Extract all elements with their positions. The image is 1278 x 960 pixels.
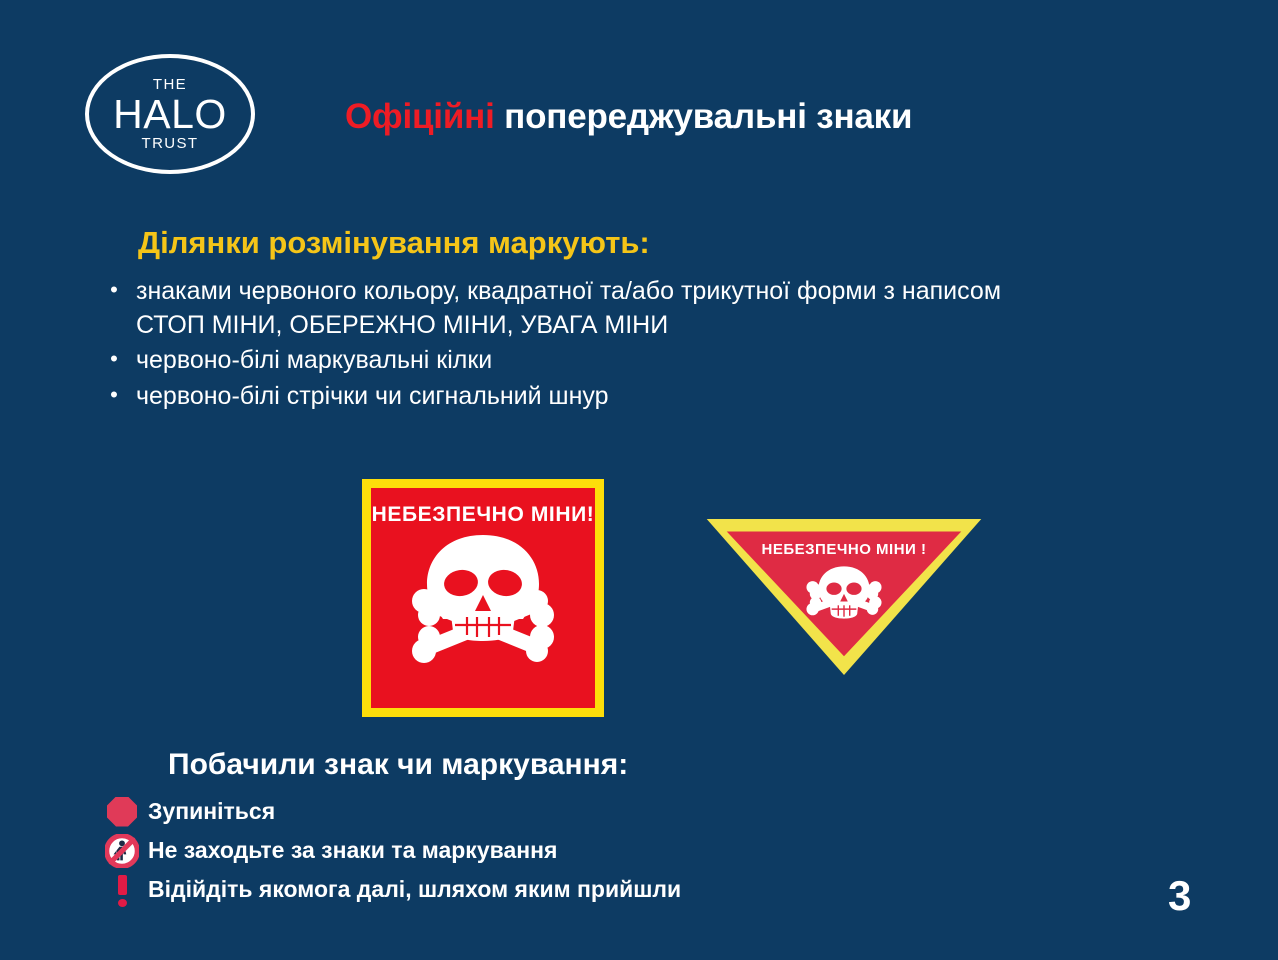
action-label: Відійдіть якомога далі, шляхом яким прий… xyxy=(148,876,1096,903)
bullet-text: червоно-білі маркувальні кілки xyxy=(136,344,1192,378)
bullet-text: червоно-білі стрічки чи сигнальний шнур xyxy=(136,380,1192,414)
action-label: Не заходьте за знаки та маркування xyxy=(148,837,1096,864)
skull-and-crossbones-icon xyxy=(403,531,563,686)
actions-list: Зупиніться Не заходьте за знаки та марку… xyxy=(96,792,1096,909)
triangle-sign-label: НЕБЕЗПЕЧНО МІНИ ! xyxy=(701,541,987,558)
exclamation-mark-icon xyxy=(96,875,148,905)
list-item: • знаками червоного кольору, квадратної … xyxy=(92,275,1192,342)
skull-and-crossbones-icon xyxy=(806,566,882,643)
no-entry-pedestrian-icon xyxy=(96,834,148,868)
logo-line-halo: HALO xyxy=(113,95,227,134)
bullet-text-line2: СТОП МІНИ, ОБЕРЕЖНО МІНИ, УВАГА МІНИ xyxy=(136,309,1192,343)
logo-line-the: THE xyxy=(153,77,187,92)
slide-title-accent: Офіційні xyxy=(345,97,495,136)
list-item: • червоно-білі маркувальні кілки xyxy=(92,344,1192,378)
logo-line-trust: TRUST xyxy=(142,136,199,151)
list-item: Не заходьте за знаки та маркування xyxy=(96,831,1096,870)
slide-root: THE HALO TRUST Офіційні попереджувальні … xyxy=(0,0,1278,960)
bullet-text-line1: червоно-білі маркувальні кілки xyxy=(136,346,492,374)
triangle-mine-warning-sign: НЕБЕЗПЕЧНО МІНИ ! xyxy=(701,519,987,675)
list-item: Відійдіть якомога далі, шляхом яким прий… xyxy=(96,870,1096,909)
list-item: • червоно-білі стрічки чи сигнальний шну… xyxy=(92,380,1192,414)
square-sign-label: НЕБЕЗПЕЧНО МІНИ! xyxy=(372,503,595,527)
stop-sign-icon xyxy=(96,797,148,827)
page-number: 3 xyxy=(1168,872,1191,920)
marking-bullet-list: • знаками червоного кольору, квадратної … xyxy=(92,275,1192,415)
list-item: Зупиніться xyxy=(96,792,1096,831)
bullet-marker-icon: • xyxy=(92,275,136,305)
square-mine-warning-sign: НЕБЕЗПЕЧНО МІНИ! xyxy=(362,479,604,717)
bullet-text: знаками червоного кольору, квадратної та… xyxy=(136,275,1192,342)
bullet-marker-icon: • xyxy=(92,344,136,374)
bullet-text-line1: знаками червоного кольору, квадратної та… xyxy=(136,277,1001,305)
bullet-marker-icon: • xyxy=(92,380,136,410)
slide-title-rest: попереджувальні знаки xyxy=(504,97,912,136)
logo-text-block: THE HALO TRUST xyxy=(85,54,255,174)
halo-trust-logo: THE HALO TRUST xyxy=(85,54,255,174)
slide-title: Офіційні попереджувальні знаки xyxy=(345,97,912,137)
marking-section-heading: Ділянки розмінування маркують: xyxy=(138,225,650,261)
bullet-text-line1: червоно-білі стрічки чи сигнальний шнур xyxy=(136,382,609,410)
actions-section-heading: Побачили знак чи маркування: xyxy=(168,748,628,782)
action-label: Зупиніться xyxy=(148,798,1096,825)
